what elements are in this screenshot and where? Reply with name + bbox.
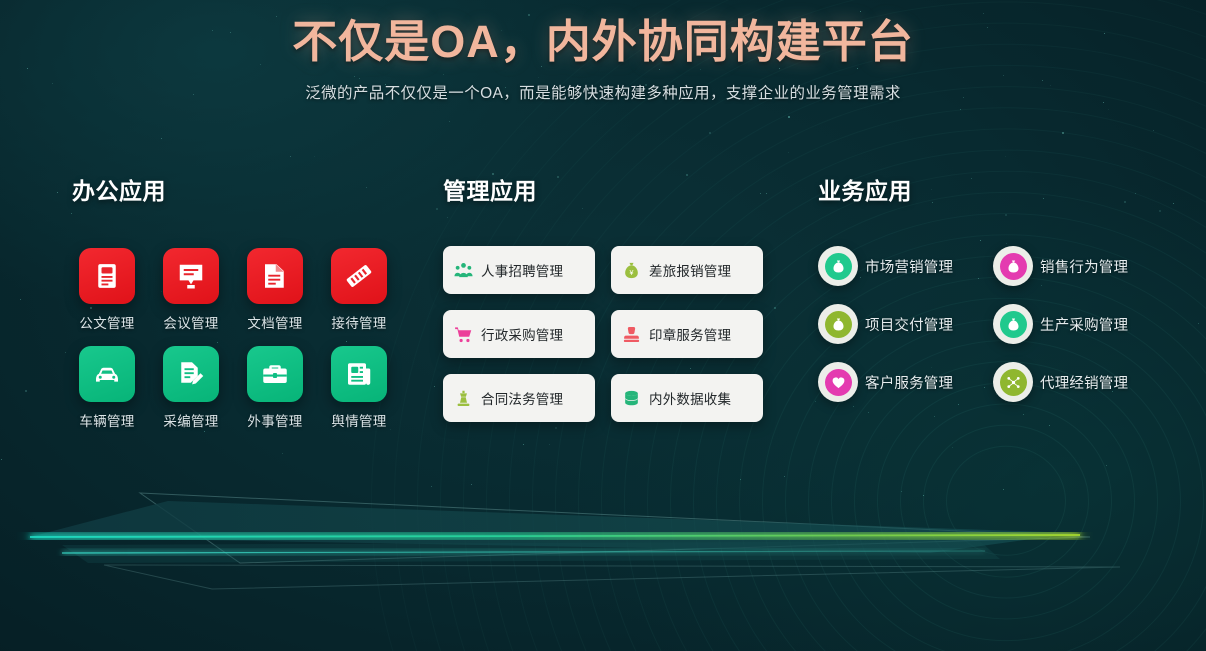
app-tile-label: 采编管理 — [156, 410, 226, 430]
money-bag-icon: ¥ — [1000, 253, 1027, 280]
app-pill-item[interactable]: 印章服务管理 — [611, 310, 763, 358]
app-tile-label: 会议管理 — [156, 312, 226, 332]
money-bag-icon: ¥ — [622, 261, 641, 280]
page-title: 不仅是OA，内外协同构建平台 — [0, 14, 1206, 70]
money-bag-icon: ¥ — [1000, 311, 1027, 338]
slide-header: 不仅是OA，内外协同构建平台 泛微的产品不仅仅是一个OA，而是能够快速构建多种应… — [0, 14, 1206, 103]
app-tile-item[interactable]: 接待管理 — [324, 248, 394, 332]
app-tile-item[interactable]: 舆情管理 — [324, 346, 394, 430]
slide-canvas: 不仅是OA，内外协同构建平台 泛微的产品不仅仅是一个OA，而是能够快速构建多种应… — [0, 0, 1206, 651]
circle-grid-business: ¥市场营销管理¥销售行为管理¥项目交付管理¥生产采购管理客户服务管理代理经销管理 — [818, 246, 1168, 402]
app-tile-label: 文档管理 — [240, 312, 310, 332]
people-group-icon — [454, 261, 473, 280]
tile-grid-office: 公文管理会议管理文档管理接待管理车辆管理采编管理外事管理舆情管理 — [72, 248, 412, 430]
app-circle-label: 市场营销管理 — [865, 256, 953, 277]
app-tile-item[interactable]: 会议管理 — [156, 248, 226, 332]
handshake-icon[interactable] — [331, 248, 387, 304]
app-tile-item[interactable]: 外事管理 — [240, 346, 310, 430]
heart-icon — [825, 369, 852, 396]
app-pill-label: 差旅报销管理 — [649, 260, 731, 280]
app-tile-item[interactable]: 文档管理 — [240, 248, 310, 332]
app-circle-item[interactable]: ¥销售行为管理 — [993, 246, 1158, 286]
car-icon[interactable] — [79, 346, 135, 402]
file-pages-icon[interactable] — [247, 248, 303, 304]
app-circle-badge — [993, 362, 1033, 402]
app-pill-label: 人事招聘管理 — [481, 260, 563, 280]
app-tile-item[interactable]: 车辆管理 — [72, 346, 142, 430]
column-heading-management: 管理应用 — [443, 172, 783, 206]
app-circle-item[interactable]: ¥项目交付管理 — [818, 304, 983, 344]
app-circle-badge: ¥ — [993, 246, 1033, 286]
app-pill-label: 行政采购管理 — [481, 324, 563, 344]
app-tile-item[interactable]: 采编管理 — [156, 346, 226, 430]
app-pill-label: 内外数据收集 — [649, 388, 731, 408]
edit-document-icon[interactable] — [163, 346, 219, 402]
svg-text:¥: ¥ — [630, 268, 634, 276]
network-nodes-icon — [1000, 369, 1027, 396]
column-office-applications: 办公应用 公文管理会议管理文档管理接待管理车辆管理采编管理外事管理舆情管理 — [72, 172, 412, 430]
app-circle-label: 代理经销管理 — [1040, 372, 1128, 393]
column-heading-office: 办公应用 — [72, 172, 412, 206]
app-circle-badge — [818, 362, 858, 402]
money-bag-icon: ¥ — [825, 253, 852, 280]
app-circle-label: 销售行为管理 — [1040, 256, 1128, 277]
app-tile-item[interactable]: 公文管理 — [72, 248, 142, 332]
app-pill-item[interactable]: 行政采购管理 — [443, 310, 595, 358]
application-columns: 办公应用 公文管理会议管理文档管理接待管理车辆管理采编管理外事管理舆情管理 管理… — [0, 172, 1206, 462]
app-tile-label: 接待管理 — [324, 312, 394, 332]
app-pill-label: 合同法务管理 — [481, 388, 563, 408]
shopping-cart-icon — [454, 325, 473, 344]
column-business-applications: 业务应用 ¥市场营销管理¥销售行为管理¥项目交付管理¥生产采购管理客户服务管理代… — [818, 172, 1168, 402]
gavel-contract-icon — [454, 389, 473, 408]
column-management-applications: 管理应用 人事招聘管理¥差旅报销管理行政采购管理印章服务管理合同法务管理内外数据… — [443, 172, 783, 422]
app-pill-label: 印章服务管理 — [649, 324, 731, 344]
meeting-banner-icon[interactable] — [163, 248, 219, 304]
app-circle-badge: ¥ — [993, 304, 1033, 344]
money-bag-icon: ¥ — [825, 311, 852, 338]
document-stamp-icon[interactable] — [79, 248, 135, 304]
app-tile-label: 公文管理 — [72, 312, 142, 332]
app-pill-item[interactable]: 内外数据收集 — [611, 374, 763, 422]
app-circle-item[interactable]: ¥生产采购管理 — [993, 304, 1158, 344]
database-icon — [622, 389, 641, 408]
app-circle-label: 生产采购管理 — [1040, 314, 1128, 335]
page-subtitle: 泛微的产品不仅仅是一个OA，而是能够快速构建多种应用，支撑企业的业务管理需求 — [0, 81, 1206, 103]
app-pill-item[interactable]: 人事招聘管理 — [443, 246, 595, 294]
stamp-icon — [622, 325, 641, 344]
pill-grid-management: 人事招聘管理¥差旅报销管理行政采购管理印章服务管理合同法务管理内外数据收集 — [443, 246, 783, 422]
app-circle-badge: ¥ — [818, 304, 858, 344]
column-heading-business: 业务应用 — [818, 172, 1168, 206]
app-tile-label: 舆情管理 — [324, 410, 394, 430]
app-circle-item[interactable]: 代理经销管理 — [993, 362, 1158, 402]
app-pill-item[interactable]: ¥差旅报销管理 — [611, 246, 763, 294]
app-circle-item[interactable]: ¥市场营销管理 — [818, 246, 983, 286]
briefcase-icon[interactable] — [247, 346, 303, 402]
app-circle-label: 客户服务管理 — [865, 372, 953, 393]
app-tile-label: 车辆管理 — [72, 410, 142, 430]
app-circle-badge: ¥ — [818, 246, 858, 286]
app-pill-item[interactable]: 合同法务管理 — [443, 374, 595, 422]
app-circle-label: 项目交付管理 — [865, 314, 953, 335]
platform-illustration — [0, 441, 1206, 651]
app-tile-label: 外事管理 — [240, 410, 310, 430]
news-icon[interactable] — [331, 346, 387, 402]
app-circle-item[interactable]: 客户服务管理 — [818, 362, 983, 402]
